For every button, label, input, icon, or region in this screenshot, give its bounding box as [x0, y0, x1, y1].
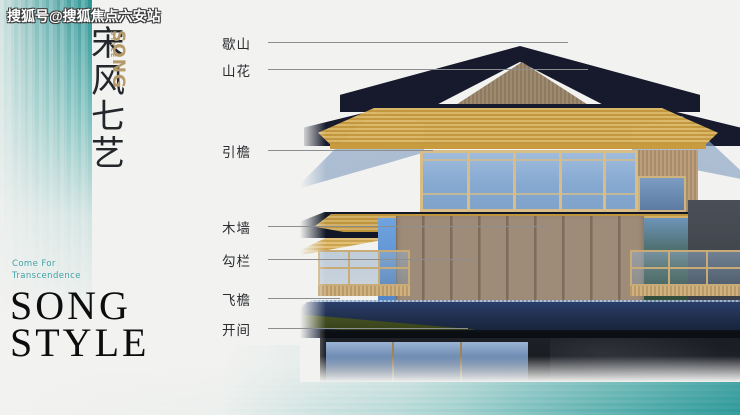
balcony-railing-right — [630, 250, 740, 286]
annotation-label: 飞檐 — [222, 289, 251, 309]
vertical-title-char-2: 七 — [85, 99, 131, 136]
annotation-label: 引檐 — [222, 141, 251, 161]
photo-inner — [300, 0, 740, 382]
wordmark: SONG STYLE — [10, 288, 149, 362]
annotation-label: 开间 — [222, 319, 251, 339]
photo-left-fade — [300, 0, 326, 382]
upper-glass-curtain — [420, 150, 638, 212]
annotation-leader-line — [268, 42, 568, 43]
slide-canvas: 歇山山花引檐木墙勾栏飞檐开间 宋 风 七 艺 SONG STYLE Come F… — [0, 0, 740, 415]
annotation-leader-line — [268, 69, 588, 70]
balcony-base-left — [318, 286, 410, 296]
timber-slat-wall — [396, 216, 644, 308]
annotation-label: 勾栏 — [222, 250, 251, 270]
annotation-label: 木墙 — [222, 217, 251, 237]
wordmark-line-1: STYLE — [10, 325, 149, 362]
rotated-style-text: STYLE — [109, 31, 116, 59]
annotation-leader-line — [268, 328, 468, 329]
annotation-label: 山花 — [222, 60, 251, 80]
annotation-leader-line — [268, 298, 340, 299]
photo-bottom-fade — [300, 356, 740, 382]
annotation-leader-line — [268, 259, 473, 260]
eave-upper-lattice — [318, 108, 718, 148]
tagline-line-0: Come For — [12, 258, 81, 270]
watermark: 搜狐号@搜狐焦点六安站 — [7, 6, 161, 26]
vertical-title-char-3: 艺 — [85, 136, 131, 173]
annotation-label: 歇山 — [222, 33, 251, 53]
eave-upper-trim — [330, 144, 706, 149]
balcony-railing-left — [318, 250, 410, 286]
balcony-base-right — [630, 286, 740, 296]
tagline-line-1: Transcendence — [12, 270, 81, 282]
building-photo — [300, 0, 740, 382]
annotation-leader-line — [268, 226, 548, 227]
tagline: Come For Transcendence — [12, 258, 81, 283]
rotated-song-style-mark: SONG STYLE — [112, 30, 152, 100]
upper-right-window — [638, 176, 686, 212]
annotation-leader-line — [268, 150, 433, 151]
